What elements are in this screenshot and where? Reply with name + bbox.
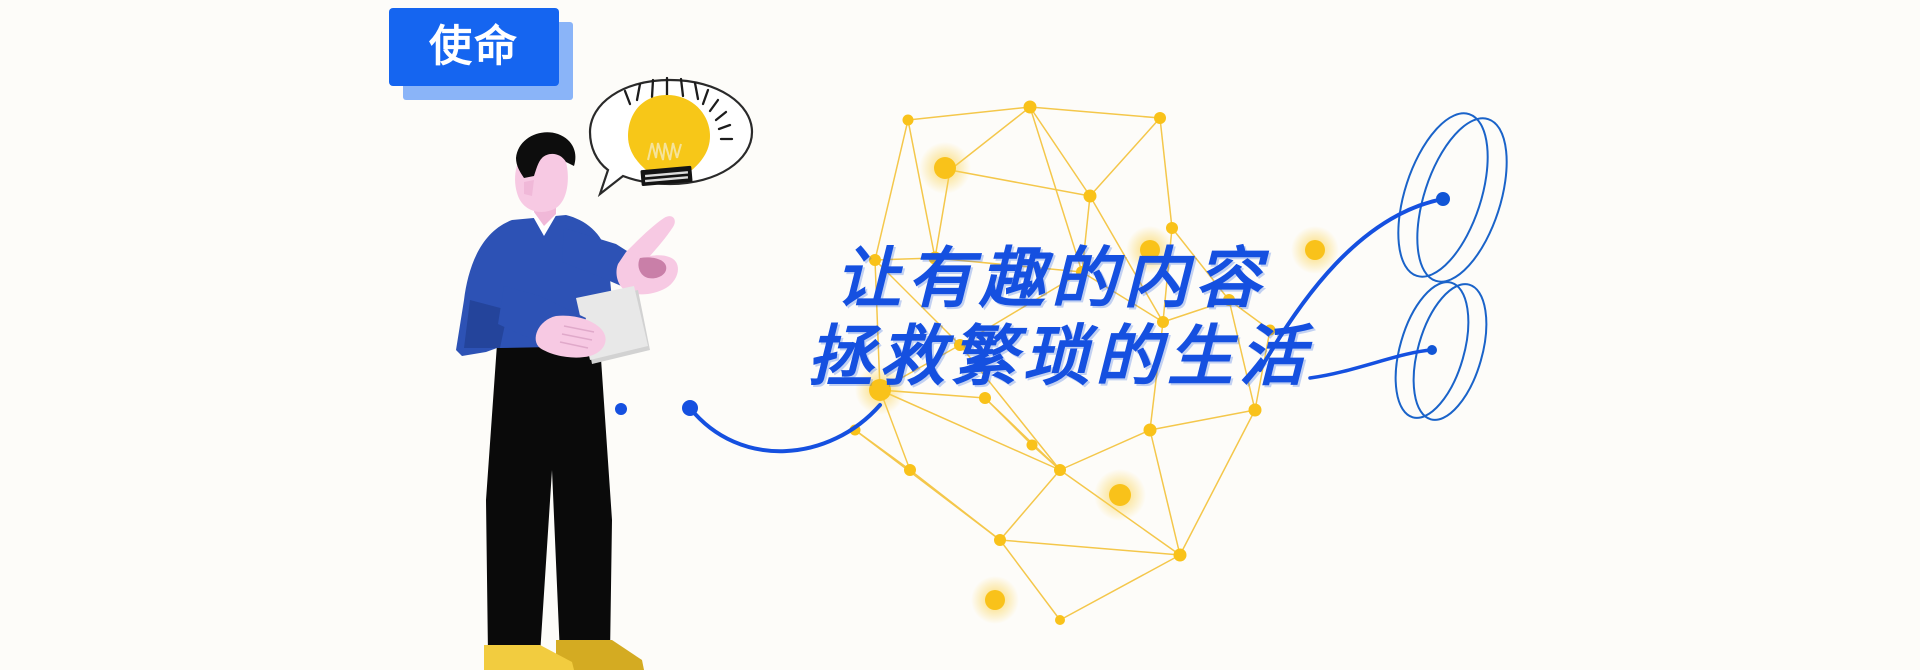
badge-label: 使命 [429,26,519,69]
headline-line-2: 拯救繁琐的生活 [807,318,1555,396]
badge-box[interactable]: 使命 [389,8,559,86]
headline-line-1: 让有趣的内容 [835,240,1555,318]
headline-block: 让有趣的内容 拯救繁琐的生活 [835,240,1555,396]
mission-banner: 使命 让有趣的内容 拯救繁琐的生活 [0,0,1920,670]
mission-badge[interactable]: 使命 [389,8,574,100]
